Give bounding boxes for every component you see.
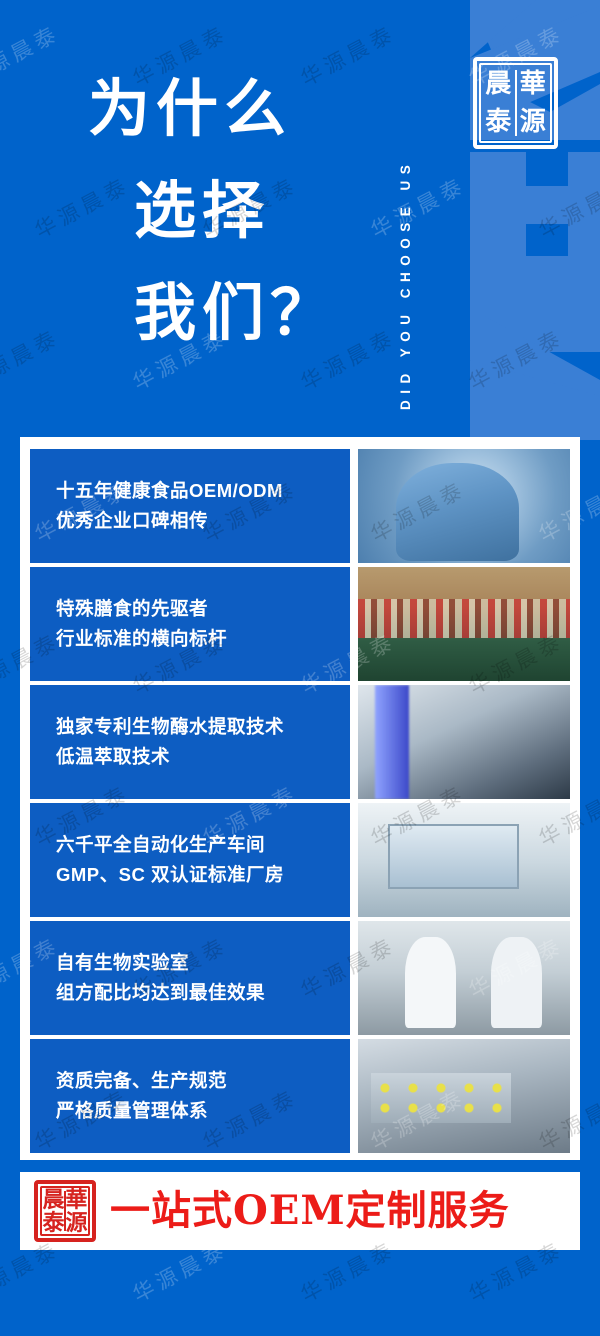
photo-placeholder (358, 1039, 570, 1153)
seal-char-3: 泰 (42, 1211, 65, 1234)
feature-image-6 (358, 1039, 570, 1153)
feature-image-1 (358, 449, 570, 563)
photo-placeholder (358, 921, 570, 1035)
feature-row: 独家专利生物酶水提取技术 低温萃取技术 (30, 685, 570, 799)
feature-line-1a: 十五年健康食品OEM/ODM (56, 476, 350, 506)
feature-text-1: 十五年健康食品OEM/ODM 优秀企业口碑相传 (30, 449, 350, 563)
feature-line-4b: GMP、SC 双认证标准厂房 (56, 860, 350, 890)
feature-line-2b: 行业标准的横向标杆 (56, 624, 350, 654)
seal-inner-grid: 晨 華 泰 源 (40, 1186, 90, 1236)
title-line-1: 为什么 (88, 58, 388, 160)
photo-placeholder (358, 685, 570, 799)
seal-box: 晨 華 泰 源 (34, 1180, 96, 1242)
seal-char-2: 華 (516, 65, 551, 103)
footer-banner: 晨 華 泰 源 一站式OEM定制服务 (20, 1172, 580, 1250)
vertical-tagline-text: DID YOU CHOOSE US (398, 10, 413, 410)
title-line-3: 我们？ (88, 262, 388, 364)
feature-image-4 (358, 803, 570, 917)
title-line-2: 选择 (88, 160, 388, 262)
feature-text-2: 特殊膳食的先驱者 行业标准的横向标杆 (30, 567, 350, 681)
photo-placeholder (358, 567, 570, 681)
feature-line-5b: 组方配比均达到最佳效果 (56, 978, 350, 1008)
feature-row: 十五年健康食品OEM/ODM 优秀企业口碑相传 (30, 449, 570, 563)
feature-line-6a: 资质完备、生产规范 (56, 1066, 350, 1096)
feature-line-5a: 自有生物实验室 (56, 948, 350, 978)
feature-line-3a: 独家专利生物酶水提取技术 (56, 712, 350, 742)
feature-row: 特殊膳食的先驱者 行业标准的横向标杆 (30, 567, 570, 681)
seal-char-4: 源 (516, 103, 551, 141)
seal-inner-grid: 晨 華 泰 源 (479, 63, 552, 143)
footer-slogan: 一站式OEM定制服务 (110, 1191, 510, 1231)
feature-text-3: 独家专利生物酶水提取技术 低温萃取技术 (30, 685, 350, 799)
feature-image-3 (358, 685, 570, 799)
feature-line-2a: 特殊膳食的先驱者 (56, 594, 350, 624)
poster-root: 为什么 选择 我们？ DID YOU CHOOSE US 晨 華 泰 源 十五年… (0, 0, 600, 1336)
feature-row: 自有生物实验室 组方配比均达到最佳效果 (30, 921, 570, 1035)
feature-row: 六千平全自动化生产车间 GMP、SC 双认证标准厂房 (30, 803, 570, 917)
seal-char-4: 源 (65, 1211, 88, 1234)
seal-char-1: 晨 (42, 1188, 65, 1211)
photo-placeholder (358, 803, 570, 917)
feature-image-2 (358, 567, 570, 681)
feature-line-1b: 优秀企业口碑相传 (56, 506, 350, 536)
feature-line-6b: 严格质量管理体系 (56, 1096, 350, 1126)
feature-image-5 (358, 921, 570, 1035)
company-seal-logo: 晨 華 泰 源 (473, 57, 558, 149)
vertical-tagline: DID YOU CHOOSE US (398, 10, 424, 410)
seal-char-3: 泰 (481, 103, 516, 141)
page-title: 为什么 选择 我们？ (88, 58, 388, 364)
seal-box: 晨 華 泰 源 (473, 57, 558, 149)
photo-placeholder (358, 449, 570, 563)
feature-list-panel: 十五年健康食品OEM/ODM 优秀企业口碑相传 特殊膳食的先驱者 行业标准的横向… (20, 437, 580, 1160)
seal-char-1: 晨 (481, 65, 516, 103)
feature-text-4: 六千平全自动化生产车间 GMP、SC 双认证标准厂房 (30, 803, 350, 917)
feature-row: 资质完备、生产规范 严格质量管理体系 (30, 1039, 570, 1153)
company-seal-logo-footer: 晨 華 泰 源 (34, 1180, 96, 1242)
feature-line-3b: 低温萃取技术 (56, 742, 350, 772)
feature-text-6: 资质完备、生产规范 严格质量管理体系 (30, 1039, 350, 1153)
feature-text-5: 自有生物实验室 组方配比均达到最佳效果 (30, 921, 350, 1035)
seal-char-2: 華 (65, 1188, 88, 1211)
feature-line-4a: 六千平全自动化生产车间 (56, 830, 350, 860)
header-section: 为什么 选择 我们？ DID YOU CHOOSE US 晨 華 泰 源 (0, 0, 600, 437)
